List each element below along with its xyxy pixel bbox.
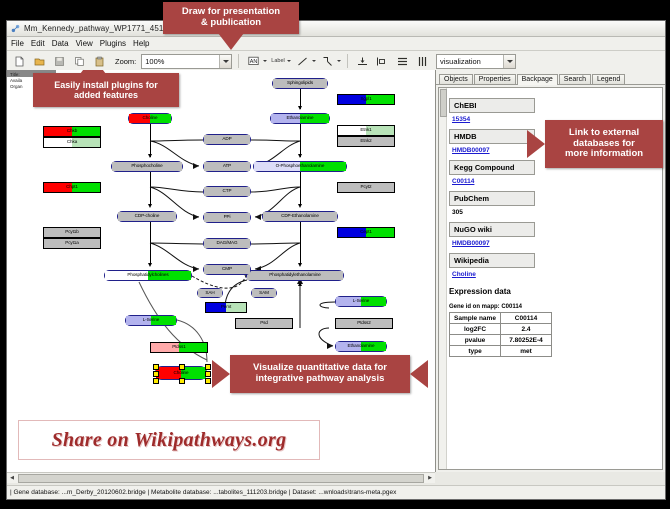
- node-label: Sgpl1: [360, 97, 371, 102]
- distribute-vertical-icon[interactable]: [394, 53, 411, 70]
- node-label: ATP: [223, 164, 231, 169]
- metabolite-node-adp[interactable]: ADP: [203, 134, 251, 145]
- wikipedia-link[interactable]: Choline: [452, 271, 658, 278]
- visualize-callout-text: Visualize quantitative data forintegrati…: [253, 363, 387, 385]
- link-callout-text: Link to externaldatabases formore inform…: [565, 128, 643, 161]
- menu-item-file[interactable]: File: [11, 39, 24, 48]
- canvas-horizontal-scrollbar[interactable]: ◀ ▶: [7, 472, 435, 483]
- cell-value-type: met: [501, 346, 552, 357]
- menu-item-edit[interactable]: Edit: [31, 39, 45, 48]
- node-label: CMP: [222, 267, 232, 272]
- metabolite-node-cmp[interactable]: CMP: [203, 264, 251, 275]
- node-label: Pcyt2: [361, 185, 372, 190]
- selection-handle-1[interactable]: [179, 364, 185, 370]
- datanode-icon[interactable]: AN: [245, 53, 262, 70]
- metabolite-node-ethanolamine-bottom[interactable]: Ethanolamine: [335, 341, 387, 352]
- edge-choline-phosphocholine: [150, 124, 151, 157]
- scroll-left-arrow-icon[interactable]: ◀: [7, 474, 17, 483]
- table-row: log2FC 2.4: [450, 324, 552, 335]
- node-label: Etnk2: [360, 139, 371, 144]
- selection-handle-4[interactable]: [205, 371, 211, 377]
- metabolite-node-atp[interactable]: ATP: [203, 161, 251, 172]
- metabolite-node-ethanolamine-top[interactable]: Ethanolamine: [270, 113, 330, 124]
- align-top-icon[interactable]: [354, 53, 371, 70]
- visualization-value: visualization: [440, 57, 481, 66]
- selection-handle-3[interactable]: [153, 371, 159, 377]
- align-left-icon[interactable]: [374, 53, 391, 70]
- selection-handle-7[interactable]: [205, 378, 211, 384]
- edge-cdpcholine-pc: [150, 222, 151, 265]
- section-header-nugo: NuGO wiki: [449, 222, 535, 237]
- gene-node-chkb[interactable]: Chkb: [43, 126, 101, 137]
- draw-callout-text: Draw for presentation& publication: [182, 7, 280, 29]
- node-label: Ptdss1: [172, 345, 185, 350]
- datanode-dropdown[interactable]: AN: [245, 53, 267, 70]
- zoom-value: 100%: [145, 57, 164, 66]
- arrow-down-1: [148, 154, 152, 158]
- copy-icon[interactable]: [71, 53, 88, 70]
- svg-text:AN: AN: [250, 59, 258, 65]
- metabolite-node-sphingolipids[interactable]: Sphingolipids: [272, 78, 328, 89]
- tab-legend[interactable]: Legend: [592, 74, 625, 84]
- expression-table: Sample name C00114 log2FC 2.4 pvalue 7.8…: [449, 312, 552, 357]
- zoom-combobox[interactable]: 100%: [141, 54, 232, 69]
- node-label: Etnk1: [360, 128, 371, 133]
- section-header-hmdb: HMDB: [449, 129, 535, 144]
- cell-value-sample-name: C00114: [501, 313, 552, 324]
- gene-node-pcyt2[interactable]: Pcyt2: [337, 182, 395, 193]
- section-header-chebi: ChEBI: [449, 98, 535, 113]
- pubchem-value: 305: [452, 209, 658, 216]
- node-label: L-Serine: [143, 318, 160, 323]
- section-header-pubchem: PubChem: [449, 191, 535, 206]
- arrow-down-3: [148, 263, 152, 267]
- line-dropdown[interactable]: [294, 53, 316, 70]
- chevron-down-icon[interactable]: [219, 55, 231, 68]
- section-header-wikipedia: Wikipedia: [449, 253, 535, 268]
- menu-item-plugins[interactable]: Plugins: [100, 39, 126, 48]
- save-disk-icon[interactable]: [51, 53, 68, 70]
- section-header-kegg: Kegg Compound: [449, 160, 535, 175]
- metabolite-node-sam[interactable]: SAM: [251, 288, 277, 298]
- title-bar: Mm_Kennedy_pathway_WP1771_45176.gpml: [7, 21, 665, 37]
- cell-key-log2fc: log2FC: [450, 324, 501, 335]
- selection-handle-2[interactable]: [205, 364, 211, 370]
- metabolite-node-ctp[interactable]: CTP: [203, 186, 251, 197]
- label-dropdown[interactable]: Label: [270, 58, 290, 64]
- node-label: Ethanolamine: [287, 116, 314, 121]
- label-icon[interactable]: Label: [271, 58, 284, 64]
- kegg-link[interactable]: C00114: [452, 178, 658, 185]
- share-banner-text: Share on Wikipathways.org: [52, 429, 287, 452]
- visualize-callout-arrow-right: [410, 360, 428, 388]
- node-label: CTP: [223, 189, 232, 194]
- node-label: DAG/MAG: [217, 241, 238, 246]
- gene-node-chpt1[interactable]: Chpt1: [43, 182, 101, 193]
- node-label: Ethanolamine: [348, 344, 375, 349]
- cell-key-sample-name: Sample name: [450, 313, 501, 324]
- table-row: pvalue 7.80252E-4: [450, 335, 552, 346]
- tab-objects[interactable]: Objects: [439, 74, 473, 84]
- plugins-callout-text: Easily install plugins foradded features: [54, 80, 158, 101]
- new-document-icon[interactable]: [11, 53, 28, 70]
- node-fill-right: [227, 213, 250, 222]
- metabolite-node-cdp-choline[interactable]: CDP-choline: [117, 211, 177, 222]
- meta-organism: Organ: [10, 84, 23, 90]
- plugins-callout-arrow: [80, 70, 106, 74]
- draw-callout: Draw for presentation& publication: [163, 2, 299, 34]
- table-row: type met: [450, 346, 552, 357]
- backpage-scrollbar[interactable]: [439, 88, 447, 469]
- visualize-callout: Visualize quantitative data forintegrati…: [230, 355, 410, 393]
- menu-item-view[interactable]: View: [76, 39, 93, 48]
- menu-item-help[interactable]: Help: [133, 39, 149, 48]
- expression-data-title: Expression data: [449, 287, 658, 296]
- tab-properties[interactable]: Properties: [474, 74, 516, 84]
- gene-node-ptdss1[interactable]: Ptdss1: [150, 342, 208, 353]
- plugins-callout: Easily install plugins foradded features: [33, 73, 179, 107]
- node-label: Phosphatidylcholines: [127, 273, 168, 278]
- distribute-horizontal-icon[interactable]: [414, 53, 431, 70]
- gene-node-chka[interactable]: Chka: [43, 137, 101, 148]
- gene-node-pemt[interactable]: Pemt: [205, 302, 247, 313]
- paste-clipboard-icon[interactable]: [91, 53, 108, 70]
- node-label: SAM: [259, 291, 269, 296]
- metabolite-node-l-serine-right[interactable]: L-Serine: [335, 296, 387, 307]
- node-fill-right: [264, 319, 292, 328]
- metabolite-node-o-phosphoethanolamine[interactable]: O-Phosphoethanolamine: [253, 161, 347, 172]
- arrow-up-psd: [298, 282, 302, 286]
- gene-node-pcyt1a[interactable]: Pcyt1a: [43, 238, 101, 249]
- arrow-down-4: [298, 106, 302, 110]
- node-label: L-Serine: [353, 299, 370, 304]
- cell-value-pvalue: 7.80252E-4: [501, 335, 552, 346]
- selection-handle-6[interactable]: [179, 378, 185, 384]
- table-row: Sample name C00114: [450, 313, 552, 324]
- node-label: Pcyt1b: [65, 230, 78, 235]
- gene-node-psd[interactable]: Psd: [235, 318, 293, 329]
- open-folder-icon[interactable]: [31, 53, 48, 70]
- share-banner: Share on Wikipathways.org: [18, 420, 320, 460]
- arrow-down-2: [148, 204, 152, 208]
- gene-node-cept1[interactable]: Cept1: [337, 227, 395, 238]
- node-label: Pcyt1a: [65, 241, 78, 246]
- edge-pe-cdpetn: [300, 172, 301, 206]
- scroll-right-arrow-icon[interactable]: ▶: [425, 474, 435, 483]
- tab-search[interactable]: Search: [559, 74, 591, 84]
- metabolite-node-l-serine-left[interactable]: L-Serine: [125, 315, 177, 326]
- metabolite-node-dag-mag[interactable]: DAG/MAG: [203, 238, 251, 249]
- node-label: Choline: [143, 116, 158, 121]
- screenshot-root: Mm_Kennedy_pathway_WP1771_45176.gpml Fil…: [0, 0, 670, 509]
- metabolite-node-phosphocholine[interactable]: Phosphocholine: [111, 161, 183, 172]
- toolbar-separator-2: [347, 54, 348, 68]
- node-label: Chka: [67, 140, 77, 145]
- node-label: Pemt: [221, 305, 231, 310]
- node-label: Choline: [174, 371, 189, 376]
- chevron-down-icon-2[interactable]: [503, 55, 515, 68]
- visualization-combobox[interactable]: visualization: [436, 54, 516, 69]
- toolbar-separator: [238, 54, 239, 68]
- pathway-canvas-panel[interactable]: Title: Availa Organ: [7, 70, 436, 472]
- metabolite-node-sah[interactable]: SAH: [197, 288, 223, 298]
- edge-phosphocholine-cdpcholine: [150, 172, 151, 206]
- node-label: Chpt1: [66, 185, 78, 190]
- node-label: Psd: [260, 321, 268, 326]
- toolbar: Zoom: 100% AN Label: [7, 51, 665, 72]
- metabolite-node-cdp-ethanolamine[interactable]: CDP-Ethanolamine: [262, 211, 338, 222]
- arrow-down-7: [298, 263, 302, 267]
- selection-handle-5[interactable]: [153, 378, 159, 384]
- pathvisio-icon: [11, 24, 20, 33]
- metabolite-node-choline-top[interactable]: Choline: [128, 113, 172, 124]
- menu-bar: File Edit Data View Plugins Help: [7, 37, 665, 51]
- gene-node-pcyt1b[interactable]: Pcyt1b: [43, 227, 101, 238]
- cell-key-pvalue: pvalue: [450, 335, 501, 346]
- gene-node-sgpl1[interactable]: Sgpl1: [337, 94, 395, 105]
- menu-item-data[interactable]: Data: [52, 39, 69, 48]
- selection-handle-0[interactable]: [153, 364, 159, 370]
- node-label: Chkb: [67, 129, 77, 134]
- horizontal-scroll-thumb[interactable]: [18, 474, 424, 483]
- line-icon[interactable]: [294, 53, 311, 70]
- draw-callout-arrow: [218, 33, 244, 50]
- link-callout: Link to externaldatabases formore inform…: [545, 120, 663, 168]
- interaction-icon[interactable]: [319, 53, 336, 70]
- node-label: Phosphatidylethanolamine: [269, 273, 321, 278]
- node-label: ADP: [222, 137, 231, 142]
- gene-id-line: Gene id on mapp: C00114: [449, 304, 658, 310]
- node-label: PPi: [224, 215, 231, 220]
- metabolite-node-ppi[interactable]: PPi: [203, 212, 251, 223]
- node-label: Sphingolipids: [287, 81, 313, 86]
- pathway-meta: Title: Availa Organ: [10, 72, 23, 90]
- side-panel-tabs: Objects Properties Backpage Search Legen…: [436, 70, 665, 85]
- edge-etn-pe: [300, 124, 301, 157]
- nugo-link[interactable]: HMDB00097: [452, 240, 658, 247]
- node-label: Cept1: [360, 230, 372, 235]
- gene-node-etnk1[interactable]: Etnk1: [337, 125, 395, 136]
- cell-value-log2fc: 2.4: [501, 324, 552, 335]
- arrow-down-6: [298, 204, 302, 208]
- backpage-scroll-thumb[interactable]: [440, 89, 447, 117]
- zoom-label: Zoom:: [115, 57, 136, 66]
- interaction-dropdown[interactable]: [319, 53, 341, 70]
- node-label: Phosphocholine: [131, 164, 162, 169]
- gene-node-etnk2[interactable]: Etnk2: [337, 136, 395, 147]
- node-label: Ptdss2: [357, 321, 370, 326]
- node-label: O-Phosphoethanolamine: [276, 164, 325, 169]
- pathway-canvas[interactable]: Title: Availa Organ: [7, 70, 435, 472]
- cell-key-type: type: [450, 346, 501, 357]
- node-label: CDP-choline: [135, 214, 160, 219]
- node-label: SAH: [205, 291, 214, 296]
- node-label: CDP-Ethanolamine: [281, 214, 319, 219]
- gene-node-ptdss2[interactable]: Ptdss2: [335, 318, 393, 329]
- status-bar: | Gene database: ...m_Derby_20120602.bri…: [7, 485, 665, 499]
- edge-cdpetn-ptdetn: [300, 222, 301, 265]
- metabolite-node-phosphatidylethanolamine[interactable]: Phosphatidylethanolamine: [246, 270, 344, 281]
- tab-backpage[interactable]: Backpage: [517, 74, 558, 85]
- status-text: | Gene database: ...m_Derby_20120602.bri…: [10, 489, 396, 496]
- link-callout-arrow: [527, 130, 545, 158]
- status-area: ◀ ▶ | Gene database: ...m_Derby_20120602…: [7, 472, 665, 499]
- visualize-callout-arrow-left: [212, 360, 230, 388]
- metabolite-node-phosphatidylcholines[interactable]: Phosphatidylcholines: [104, 270, 192, 281]
- arrow-down-5: [298, 154, 302, 158]
